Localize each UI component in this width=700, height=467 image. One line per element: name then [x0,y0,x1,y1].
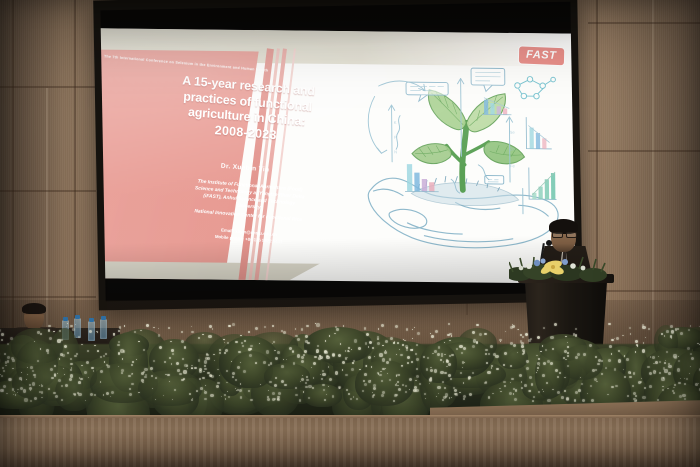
hedge-flower [216,385,218,387]
hedge-flower [595,369,597,371]
hedge-flower [461,352,462,353]
hedge-flower [144,368,147,371]
hedge-flower [657,399,659,401]
hedge-flower [518,329,519,330]
hedge-flower [207,357,210,360]
hedge-flower [608,323,610,325]
svg-text:Zn: Zn [509,146,515,151]
hedge-flower [561,396,564,399]
hedge-flower [670,325,673,328]
hedge-flower [213,354,214,355]
hedge-flower [324,350,327,353]
hedge-flower [306,325,308,327]
hedge-flower [334,333,335,334]
hedge-flower [90,393,93,396]
hedge-flower [322,370,324,372]
hedge-flower [390,337,393,340]
hedge-flower [10,337,13,340]
hedge-flower [416,368,418,370]
hedge-flower [366,365,367,366]
hedge-flower [297,354,300,357]
hedge-flower [504,352,506,354]
hedge-flower [312,387,314,389]
hedge-flower [440,371,443,374]
hedge-flower [70,369,71,370]
hedge-flower [260,384,261,385]
hedge-flower [448,374,451,377]
hedge-flower [575,328,577,330]
speaker-glasses [552,232,575,236]
hedge-flower [1,339,3,341]
hedge-flower [626,358,629,361]
hedge-flower [410,349,413,352]
hedge-flower [224,394,226,396]
hedge-flower [362,390,364,392]
hedge-flower [225,349,228,352]
hedge-flower [609,345,612,348]
hedge-flower [41,397,42,398]
hedge-flower [167,374,170,377]
hedge-flower [199,378,201,380]
hedge-flower [688,329,690,331]
hedge-flower [450,378,452,380]
hedge-flower [146,324,149,327]
hedge-flower [6,393,7,394]
hedge-flower [611,353,612,354]
hedge-flower [532,400,534,402]
hedge-flower [521,345,524,348]
hedge-flower [635,351,636,352]
hedge-flower [321,378,322,379]
hedge-flower [121,369,124,372]
hedge-flower [472,345,475,348]
hedge-flower [378,328,379,329]
hedge-flower [406,349,408,351]
hedge-flower [406,328,409,331]
hedge-flower [539,365,540,366]
hedge-flower [118,330,120,332]
hedge-flower [129,388,131,390]
hedge-flower [618,350,620,352]
hedge-flower [434,369,437,372]
hedge-flower [306,376,309,379]
hedge-flower [169,381,170,382]
hedge-flower [536,355,537,356]
hedge-flower [2,367,4,369]
hedge-flower [624,355,626,357]
hedge-flower [398,388,401,391]
hedge-flower [405,391,406,392]
hedge-flower [79,377,80,378]
hedge-flower [664,369,667,372]
hedge-flower [205,385,206,386]
hedge-flower [107,365,110,368]
hedge-flower [635,395,637,397]
hedge-flower [75,324,76,325]
hedge-flower [199,370,202,373]
hedge-flower [5,361,7,363]
wall-seam [74,0,76,330]
svg-text:Se: Se [509,129,515,134]
hedge-flower [592,369,594,371]
hedge-bush [138,370,203,406]
hedge-flower [70,325,73,328]
hedge-flower [459,345,462,348]
hedge-flower [4,353,6,355]
hedge-flower [642,349,645,352]
hedge-flower [239,389,242,392]
hedge-flower [301,328,304,331]
hedge-flower [263,361,266,364]
hedge-flower [503,381,505,383]
hedge-flower [673,392,675,394]
hedge-flower [348,393,350,395]
hedge-flower [652,356,655,359]
hedge-flower [373,384,376,387]
hedge-flower [80,378,83,381]
hedge-flower [365,342,367,344]
hedge-flower [30,366,33,369]
hedge-flower [697,343,698,344]
hedge-flower [379,353,382,356]
hedge-flower [46,349,49,352]
hedge-flower [437,353,440,356]
hedge-flower [447,334,449,336]
hedge-flower [567,355,569,357]
hedge-flower [611,339,614,342]
hedge-flower [642,396,645,399]
hedge-flower [618,359,621,362]
hedge-flower [597,363,599,365]
hedge-flower [328,386,329,387]
hedge-flower [684,398,686,400]
hedge-bush [264,363,310,389]
hedge-flower [1,375,3,377]
hedge-flower [431,335,433,337]
hedge-flower [264,326,266,328]
hedge-flower [601,360,603,362]
hedge-flower [278,392,281,395]
affiliation-line-4: University [236,203,260,210]
hedge-flower [358,347,361,350]
hedge-flower [616,337,619,340]
hedge-flower [404,340,405,341]
hedge-flower [85,400,86,401]
hedge-flower [117,344,119,346]
hedge-flower [523,351,525,353]
hedge-flower [34,376,36,378]
hedge-flower [208,335,211,338]
hedge-flower [677,368,680,371]
hedge-flower [454,389,457,392]
hedge-flower [564,350,567,353]
hedge-flower [416,358,418,360]
hedge-flower [299,399,301,401]
hedge-flower [575,334,578,337]
hedge-flower [668,372,670,374]
hedge-flower [622,335,624,337]
hedge-flower [212,328,213,329]
hedge-flower [510,326,513,329]
hedge-flower [496,368,498,370]
hedge-flower [169,357,171,359]
hedge-flower [435,330,438,333]
hedge-flower [430,333,431,334]
hedge-flower [181,340,184,343]
hedge-flower [268,364,270,366]
hedge-flower [301,356,303,358]
hedge-flower [124,325,126,327]
hedge-flower [533,396,535,398]
hedge-flower [340,343,341,344]
hedge-flower [411,361,413,363]
hedge-flower [413,389,416,392]
hedge-flower [338,354,341,357]
hedge-flower [74,394,76,396]
hedge-flower [564,390,565,391]
hedge-flower [690,325,691,326]
hedge-flower [575,356,578,359]
hedge-flower [41,385,42,386]
hedge-flower [554,323,557,326]
hedge-flower [445,393,448,396]
hedge-flower [67,352,68,353]
hedge-flower [430,369,433,372]
hedge-flower [574,399,576,401]
hand-sprout-illustration: KPN SeZnFe [357,53,574,266]
hedge-flower [373,387,376,390]
hedge-flower [442,381,444,383]
hedge-flower [414,327,415,328]
hedge-flower [103,355,105,357]
hedge-flower [424,393,425,394]
hedge-flower [690,353,692,355]
hedge-flower [324,399,326,401]
hedge-flower [332,395,334,397]
hedge-flower [177,369,180,372]
hedge-flower [70,358,72,360]
hedge-flower [348,347,350,349]
hedge-flower [228,325,230,327]
hedge-flower [32,382,35,385]
hedge-flower [274,398,276,400]
hedge-flower [243,370,246,373]
hedge-flower [429,379,432,382]
hedge-flower [204,391,207,394]
hedge-flower [304,350,307,353]
wall-seam [46,88,48,328]
hedge-flower [55,395,58,398]
hedge-flower [567,346,569,348]
hedge-flower [231,361,232,362]
hedge-flower [78,381,81,384]
hedge-flower [444,387,446,389]
hedge-flower [567,342,568,343]
hedge-flower [128,375,131,378]
hedge-flower [1,333,4,336]
hedge-flower [87,350,89,352]
wall-seam [588,22,700,24]
hedge-flower [255,327,258,330]
wall-seam [0,190,96,192]
hedge-flower [649,372,652,375]
hedge-flower [119,326,121,328]
hedge-flower [684,383,686,385]
hedge-flower [232,323,235,326]
hedge-flower [120,349,123,352]
hedge-flower [8,378,11,381]
hedge-flower [451,354,453,356]
hedge-flower [504,385,505,386]
hedge-flower [48,329,50,331]
hedge-flower [671,330,674,333]
hedge-flower [486,362,488,364]
hedge-flower [111,391,114,394]
svg-text:P: P [393,134,396,139]
hedge-flower [645,337,646,338]
hedge-flower [353,360,355,362]
hedge-flower [248,390,250,392]
hedge-flower [272,325,274,327]
hedge-flower [232,376,234,378]
hedge-flower [680,378,681,379]
hedge-flower [476,324,479,327]
hedge-flower [12,388,15,391]
hedge-flower [7,360,9,362]
hedge-flower [314,356,316,358]
hedge-flower [499,388,500,389]
hedge-flower [680,332,683,335]
hedge-flower [627,395,629,397]
hedge-flower [364,327,367,330]
hedge-flower [582,399,585,402]
hedge-flower [550,336,553,339]
hedge-flower [248,331,250,333]
hedge-flower [578,389,581,392]
hedge-flower [255,362,257,364]
hedge-flower [456,348,458,350]
wall-seam [0,296,96,298]
hedge-flower [277,396,280,399]
hedge-flower [525,333,528,336]
svg-text:Fe: Fe [509,163,515,168]
hedge-flower [332,354,334,356]
hedge-flower [183,370,186,373]
hedge-flower [437,386,440,389]
hedge-flower [301,360,304,363]
hedge-flower [385,340,388,343]
hedge-flower [351,349,352,350]
hedge-flower [543,327,545,329]
hedge-flower [678,382,680,384]
hedge-flower [329,335,331,337]
hedge-flower [305,335,307,337]
hedge-flower [448,323,450,325]
hedge-flower [170,341,171,342]
hedge-flower [563,357,565,359]
hedge-flower [377,342,380,345]
hedge-flower [415,380,416,381]
hedge-flower [630,333,631,334]
hedge-flower [136,359,137,360]
hedge-flower [472,331,474,333]
hedge-flower [382,368,385,371]
hedge-flower [281,365,284,368]
hedge-flower [649,385,652,388]
hedge-flower [100,356,102,358]
hedge-flower [191,326,193,328]
hedge-flower [283,331,286,334]
hedge-flower [48,325,51,328]
hedge-flower [382,358,385,361]
hedge-flower [269,381,272,384]
podium-flower-arrangement [509,252,607,282]
hedge-flower [416,375,419,378]
hedge-flower [78,393,81,396]
hedge-flower [40,348,41,349]
hedge-flower [415,353,417,355]
hedge-flower [202,334,204,336]
hedge-flower [295,328,296,329]
hedge-flower [189,393,191,395]
hedge-flower [545,349,547,351]
hedge-flower [611,386,614,389]
hedge-flower [322,384,324,386]
hedge-flower [164,361,166,363]
hedge-flower [386,361,389,364]
wall-seam [0,86,96,88]
hedge-flower [51,377,53,379]
hedge-flower [399,349,400,350]
presentation-slide: The 7th International Conference on Sele… [100,28,575,284]
hedge-flower [530,338,532,340]
hedge-flower [417,332,420,335]
hedge-flower [589,344,591,346]
hedge-flower [687,347,690,350]
hedge-flower [78,336,79,337]
hedge-flower [448,363,451,366]
hedge-flower [381,380,383,382]
hedge-flower [432,353,433,354]
hedge-flower [542,389,543,390]
hedge-flower [443,361,445,363]
hedge-flower [24,398,27,401]
hedge-flower [537,336,540,339]
hedge-flower [583,353,585,355]
hedge-flower [510,365,511,366]
hedge-flower [84,371,87,374]
svg-text:K: K [393,119,396,124]
hedge-flower [67,323,68,324]
hedge-flower [329,378,332,381]
hedge-flower [407,362,409,364]
hedge-flower [698,383,699,384]
hedge-flower [389,358,391,360]
hedge-flower [567,352,569,354]
hedge-flower [638,381,641,384]
hedge-flower [179,373,182,376]
hedge-flower [305,340,308,343]
hedge-flower [629,327,631,329]
hedge-flower [97,332,98,333]
hedge-flower [514,398,517,401]
hedge-flower [500,341,501,342]
hedge-flower [396,383,397,384]
hedge-flower [520,334,522,336]
hedge-flower [476,341,479,344]
hedge-flower [151,375,153,377]
hedge-flower [542,374,545,377]
